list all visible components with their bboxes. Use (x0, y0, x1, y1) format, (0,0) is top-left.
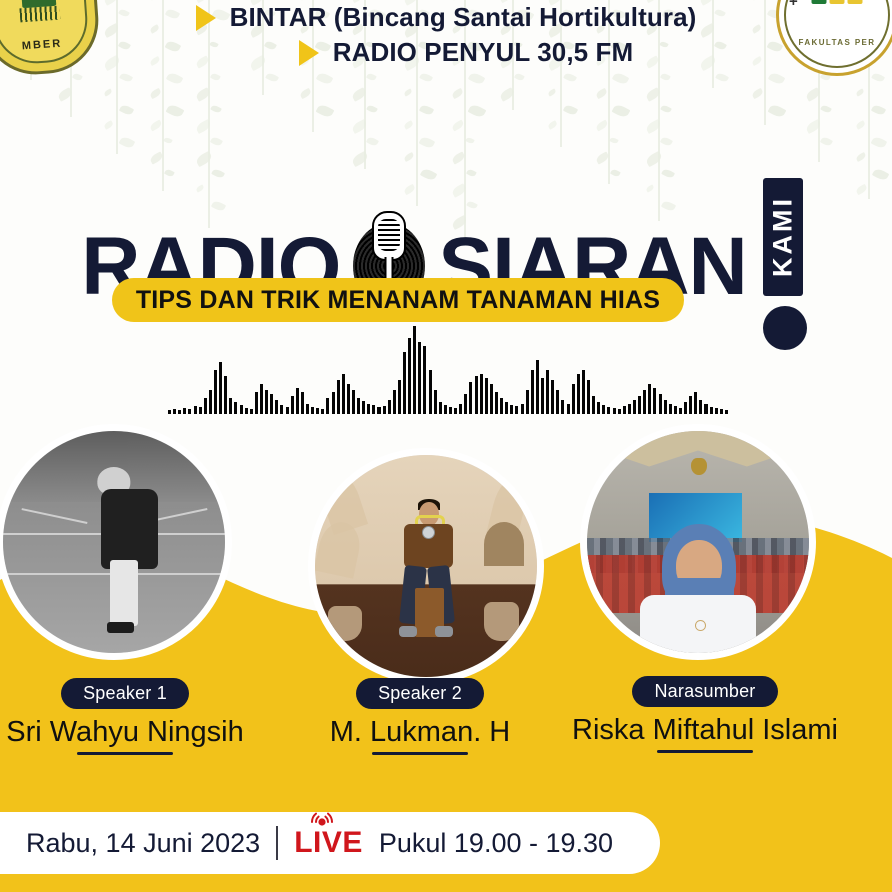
live-indicator: LIVE (294, 826, 363, 860)
play-triangle-icon (196, 5, 216, 31)
waveform-bar (602, 405, 605, 414)
waveform-bar (439, 402, 442, 414)
waveform-bar (628, 404, 631, 414)
waveform-bar (357, 398, 360, 414)
waveform-bar (408, 338, 411, 414)
waveform-bar (209, 390, 212, 414)
waveform-bar (188, 409, 191, 414)
waveform-bar (521, 404, 524, 414)
waveform-bar (173, 409, 176, 414)
waveform-bar (398, 380, 401, 414)
waveform-bar (429, 370, 432, 414)
narasumber-badge: Narasumber (632, 676, 777, 707)
kami-vertical-text: KAMI (763, 178, 803, 296)
divider (276, 826, 278, 860)
speaker-1-badge: Speaker 1 (61, 678, 189, 709)
waveform-bar (291, 396, 294, 414)
waveform-bar (613, 408, 616, 414)
waveform-bar (704, 404, 707, 414)
waveform-bar (393, 390, 396, 414)
waveform-bar (347, 384, 350, 414)
header-line-1: BINTAR (Bincang Santai Hortikultura) (0, 2, 892, 33)
waveform-bar (653, 388, 656, 414)
waveform-bar (372, 405, 375, 414)
waveform-bar (255, 392, 258, 414)
exclamation-mark: KAMI (759, 172, 811, 362)
waveform-bar (260, 384, 263, 414)
waveform-bar (684, 402, 687, 414)
live-label: LIVE (294, 826, 363, 860)
waveform-bar (577, 374, 580, 414)
waveform-bar (515, 406, 518, 414)
waveform-bar (490, 384, 493, 414)
waveform-bar (352, 390, 355, 414)
waveform-bar (332, 392, 335, 414)
speaker-1-name: Sri Wahyu Ningsih (0, 716, 250, 749)
speaker-2-name: M. Lukman. H (310, 716, 530, 749)
waveform-bar (648, 384, 651, 414)
subtitle-text: TIPS DAN TRIK MENANAM TANAMAN HIAS (136, 286, 660, 315)
waveform-bar (469, 382, 472, 414)
waveform-bar (306, 404, 309, 414)
waveform-bar (326, 398, 329, 414)
play-triangle-icon (299, 40, 319, 66)
waveform-bar (500, 398, 503, 414)
waveform-bar (265, 390, 268, 414)
waveform-bar (434, 390, 437, 414)
waveform-bar (623, 406, 626, 414)
waveform-bar (536, 360, 539, 414)
waveform-bar (551, 380, 554, 414)
subtitle-banner: TIPS DAN TRIK MENANAM TANAMAN HIAS (112, 278, 684, 322)
waveform-bar (664, 400, 667, 414)
speaker-1-photo (0, 424, 232, 660)
waveform-bar (245, 408, 248, 414)
waveform-bar (715, 408, 718, 414)
waveform-bar (454, 408, 457, 414)
waveform-bar (710, 407, 713, 414)
narasumber-name: Riska Miftahul Islami (560, 714, 850, 747)
waveform-bar (168, 410, 171, 414)
waveform-bar (367, 404, 370, 414)
waveform-bar (194, 406, 197, 414)
waveform-bar (643, 390, 646, 414)
footer-info-bar: Rabu, 14 Juni 2023 LIVE Pukul 19.00 - 19… (0, 812, 660, 874)
narasumber-underline (657, 750, 753, 753)
waveform-bar (275, 400, 278, 414)
waveform-bar (234, 402, 237, 414)
waveform-bar (240, 405, 243, 414)
waveform-bar (582, 370, 585, 414)
waveform-bar (679, 408, 682, 414)
waveform-bar (699, 400, 702, 414)
waveform-bar (286, 407, 289, 414)
broadcast-time: Pukul 19.00 - 19.30 (379, 828, 613, 859)
waveform-bar (388, 400, 391, 414)
waveform-bar (475, 376, 478, 414)
waveform-bar (694, 392, 697, 414)
waveform-bar (383, 406, 386, 414)
waveform-bar (321, 409, 324, 414)
waveform-bar (546, 370, 549, 414)
speaker-2-badge: Speaker 2 (356, 678, 484, 709)
waveform-bar (413, 326, 416, 414)
poster-root: MBER + FAKULTAS PER BINTAR (Bincang Sant… (0, 0, 892, 892)
waveform-bar (618, 409, 621, 414)
waveform-bar (199, 407, 202, 414)
waveform-bar (659, 394, 662, 414)
waveform-bar (224, 376, 227, 414)
waveform-bar (362, 401, 365, 414)
waveform-bar (531, 370, 534, 414)
waveform-bar (572, 384, 575, 414)
waveform-bar (214, 370, 217, 414)
waveform-bar (270, 394, 273, 414)
header-line-2: RADIO PENYUL 30,5 FM (40, 37, 892, 68)
waveform-bar (526, 390, 529, 414)
waveform-bar (449, 407, 452, 414)
waveform-bar (418, 342, 421, 414)
speaker-1-label-group: Speaker 1 Sri Wahyu Ningsih (0, 678, 250, 755)
waveform-bar (459, 404, 462, 414)
waveform-bar (669, 404, 672, 414)
waveform-bar (280, 405, 283, 414)
waveform-bar (229, 398, 232, 414)
narasumber-label-group: Narasumber Riska Miftahul Islami (560, 676, 850, 753)
waveform-bar (689, 396, 692, 414)
waveform-bar (633, 400, 636, 414)
waveform-bar (204, 398, 207, 414)
waveform-bar (567, 404, 570, 414)
speaker-2-underline (372, 752, 468, 755)
waveform-bar (597, 402, 600, 414)
waveform-bar (250, 409, 253, 414)
header-text-1: BINTAR (Bincang Santai Hortikultura) (230, 2, 697, 33)
waveform-bar (638, 396, 641, 414)
waveform-bar (464, 394, 467, 414)
waveform-bar (674, 406, 677, 414)
waveform-bar (403, 352, 406, 414)
header-block: BINTAR (Bincang Santai Hortikultura) RAD… (0, 0, 892, 72)
waveform-bar (337, 380, 340, 414)
speaker-1-underline (77, 752, 173, 755)
header-text-2: RADIO PENYUL 30,5 FM (333, 37, 634, 68)
waveform-bar (485, 378, 488, 414)
waveform-bar (178, 410, 181, 414)
waveform-bar (495, 392, 498, 414)
waveform-bar (342, 374, 345, 414)
waveform-bar (510, 405, 513, 414)
broadcast-signal-icon (306, 811, 338, 829)
waveform-bar (480, 374, 483, 414)
waveform-bar (587, 380, 590, 414)
narasumber-photo (580, 424, 816, 660)
waveform-bar (296, 388, 299, 414)
waveform-bar (607, 407, 610, 414)
waveform-bar (556, 390, 559, 414)
waveform-bar (316, 408, 319, 414)
waveform-bar (725, 410, 728, 414)
waveform-bar (592, 396, 595, 414)
waveform-bar (377, 407, 380, 414)
waveform-bar (561, 400, 564, 414)
waveform-bar (219, 362, 222, 414)
speaker-2-photo (308, 448, 544, 684)
waveform-bar (505, 402, 508, 414)
waveform-bar (720, 409, 723, 414)
broadcast-date: Rabu, 14 Juni 2023 (26, 828, 260, 859)
main-title: RADIO SIARAN KAMI (0, 172, 892, 362)
waveform-bar (183, 408, 186, 414)
waveform-bar (423, 346, 426, 414)
waveform-bar (311, 407, 314, 414)
exclamation-dot (763, 306, 807, 350)
waveform-bar (541, 378, 544, 414)
speaker-2-label-group: Speaker 2 M. Lukman. H (310, 678, 530, 755)
audio-waveform-icon (168, 338, 728, 414)
waveform-bar (444, 405, 447, 414)
waveform-bar (301, 392, 304, 414)
